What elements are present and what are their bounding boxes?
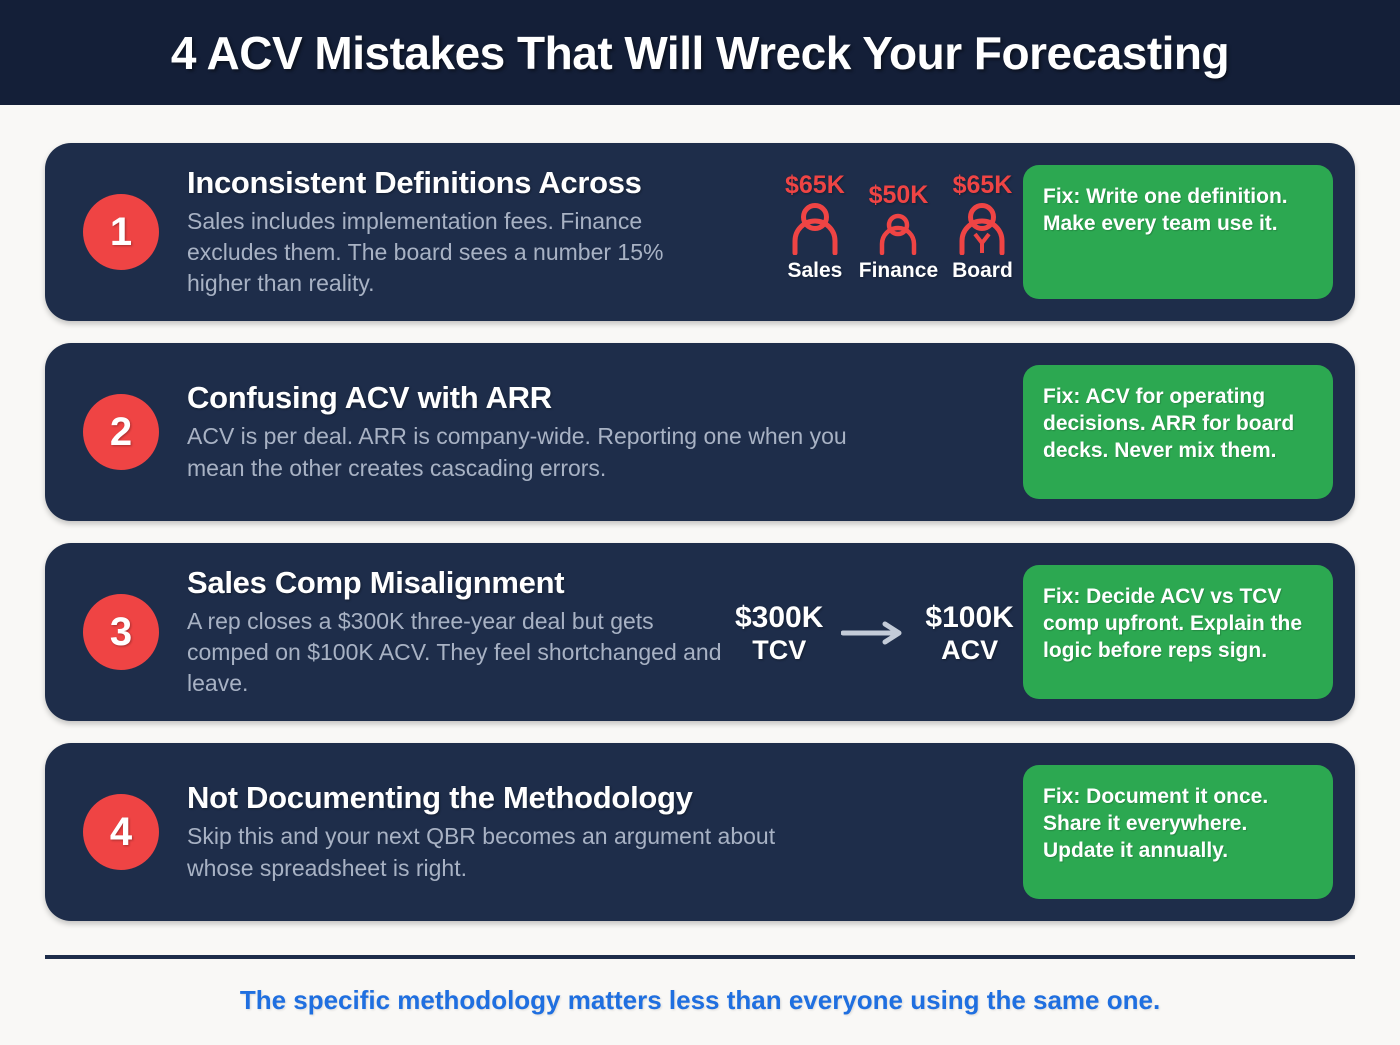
card-number-badge-3: 3 — [83, 594, 159, 670]
mistake-card-1: 1 Inconsistent Definitions Across Sales … — [45, 143, 1355, 321]
mistake-card-4: 4 Not Documenting the Methodology Skip t… — [45, 743, 1355, 921]
card-description-1: Sales includes implementation fees. Fina… — [187, 206, 727, 300]
card-title-4: Not Documenting the Methodology — [187, 780, 847, 816]
person-sales: $65K Sales — [785, 171, 845, 283]
person-finance: $50K Finance — [859, 181, 938, 283]
person-icon-finance — [875, 213, 921, 255]
mistake-card-2: 2 Confusing ACV with ARR ACV is per deal… — [45, 343, 1355, 521]
person-icon-board — [955, 203, 1009, 255]
card-number-badge-2: 2 — [83, 394, 159, 470]
flow-to: $100K ACV — [925, 601, 1013, 665]
card-title-1: Inconsistent Definitions Across — [187, 165, 727, 201]
person-label-sales: Sales — [787, 259, 842, 283]
person-board: $65K Board — [952, 171, 1013, 283]
flow-from-label: TCV — [735, 635, 823, 665]
card-text-2: Confusing ACV with ARR ACV is per deal. … — [187, 380, 847, 484]
cards-container: 1 Inconsistent Definitions Across Sales … — [0, 105, 1400, 921]
header-bar: 4 ACV Mistakes That Will Wreck Your Fore… — [0, 0, 1400, 105]
card-text-1: Inconsistent Definitions Across Sales in… — [187, 165, 727, 300]
card-number-badge-1: 1 — [83, 194, 159, 270]
flow-from-amount: $300K — [735, 601, 823, 635]
card-text-4: Not Documenting the Methodology Skip thi… — [187, 780, 847, 884]
flow-from: $300K TCV — [735, 601, 823, 665]
mistake-card-3: 3 Sales Comp Misalignment A rep closes a… — [45, 543, 1355, 721]
card-text-3: Sales Comp Misalignment A rep closes a $… — [187, 565, 727, 700]
page-title: 4 ACV Mistakes That Will Wreck Your Fore… — [171, 26, 1229, 80]
fix-box-4: Fix: Document it once. Share it everywhe… — [1023, 765, 1333, 899]
arrow-right-icon — [841, 620, 907, 646]
fix-box-3: Fix: Decide ACV vs TCV comp upfront. Exp… — [1023, 565, 1333, 699]
footer-tagline: The specific methodology matters less th… — [0, 985, 1400, 1016]
card-description-2: ACV is per deal. ARR is company-wide. Re… — [187, 421, 847, 484]
card-number-badge-4: 4 — [83, 794, 159, 870]
flow-to-amount: $100K — [925, 601, 1013, 635]
people-comparison-visual: $65K Sales $50K Finance $65K — [785, 171, 1013, 283]
flow-to-label: ACV — [925, 635, 1013, 665]
card-description-3: A rep closes a $300K three-year deal but… — [187, 606, 727, 700]
fix-box-2: Fix: ACV for operating decisions. ARR fo… — [1023, 365, 1333, 499]
person-amount-board: $65K — [953, 171, 1013, 200]
card-title-2: Confusing ACV with ARR — [187, 380, 847, 416]
person-amount-sales: $65K — [785, 171, 845, 200]
person-icon-sales — [788, 203, 842, 255]
footer-divider — [45, 955, 1355, 959]
person-label-finance: Finance — [859, 259, 938, 283]
footer: The specific methodology matters less th… — [0, 955, 1400, 1045]
person-label-board: Board — [952, 259, 1013, 283]
card-description-4: Skip this and your next QBR becomes an a… — [187, 821, 847, 884]
person-amount-finance: $50K — [869, 181, 929, 210]
card-title-3: Sales Comp Misalignment — [187, 565, 727, 601]
fix-box-1: Fix: Write one definition. Make every te… — [1023, 165, 1333, 299]
